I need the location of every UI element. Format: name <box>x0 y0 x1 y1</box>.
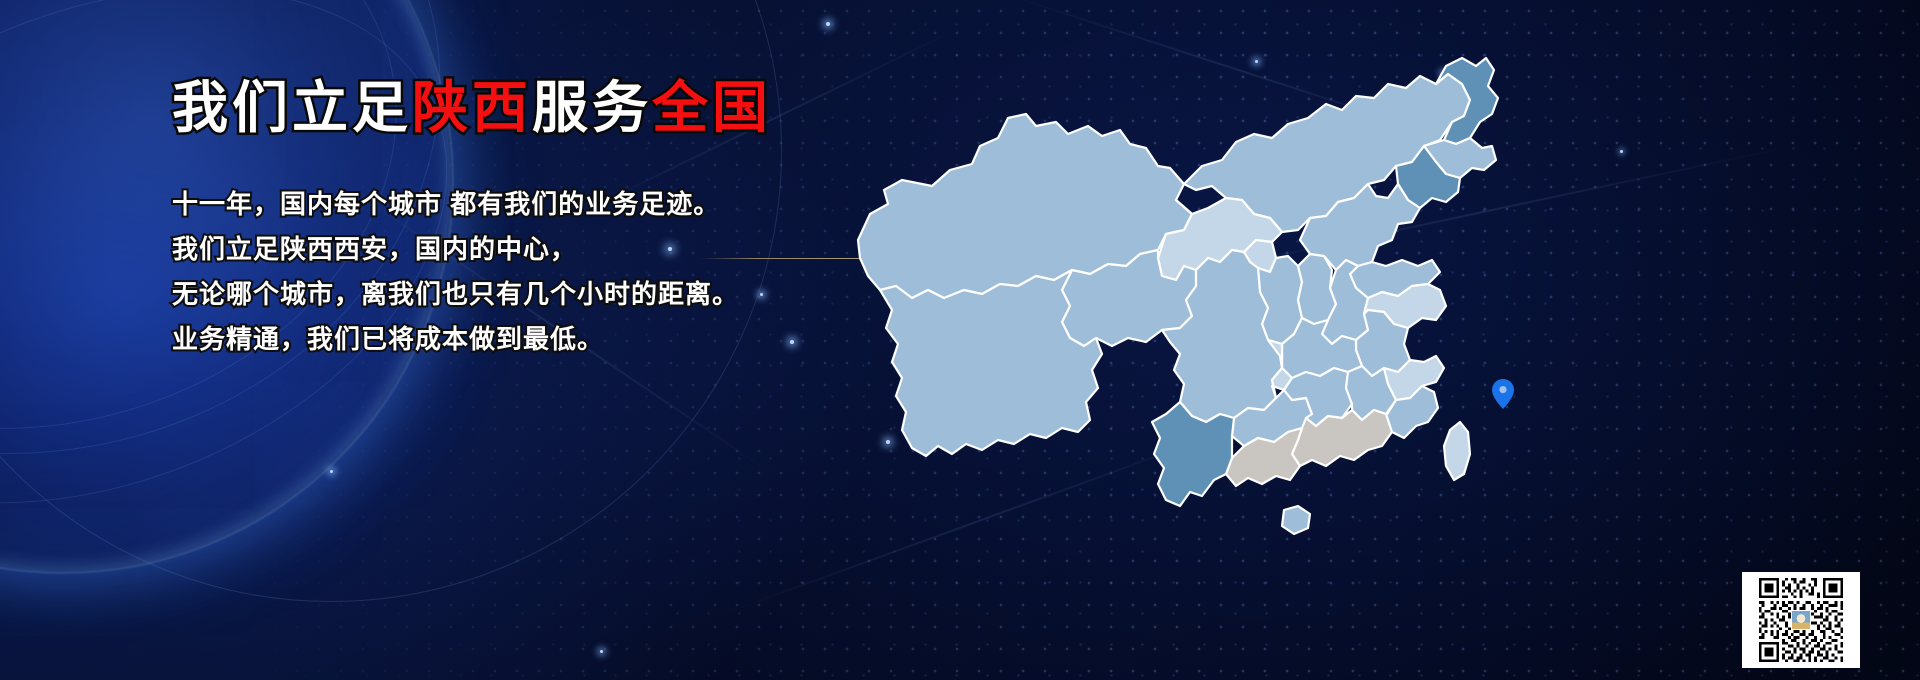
headline-segment-2: 陕西 <box>412 76 532 139</box>
headline-segment-1: 我们立足 <box>172 76 412 139</box>
map-location-pin[interactable] <box>1492 379 1514 409</box>
china-map <box>840 18 1520 563</box>
body-line-4: 业务精通，我们已将成本做到最低。 <box>172 317 872 362</box>
body-line-2: 我们立足陕西西安，国内的中心， <box>172 227 872 272</box>
headline-segment-3: 服务 <box>532 76 652 139</box>
qr-code[interactable] <box>1742 572 1860 668</box>
promo-banner: 我们立足陕西服务全国 十一年，国内每个城市 都有我们的业务足迹。 我们立足陕西西… <box>0 0 1920 680</box>
province-hainan <box>1282 506 1310 534</box>
banner-copy: 我们立足陕西服务全国 十一年，国内每个城市 都有我们的业务足迹。 我们立足陕西西… <box>172 78 872 361</box>
body-line-1: 十一年，国内每个城市 都有我们的业务足迹。 <box>172 182 872 227</box>
headline-segment-4: 全国 <box>652 76 772 139</box>
province-yunnan <box>1152 402 1234 506</box>
province-taiwan <box>1444 422 1470 480</box>
body-line-3: 无论哪个城市，离我们也只有几个小时的距离。 <box>172 272 872 317</box>
province-guangdong <box>1292 410 1392 466</box>
page-title: 我们立足陕西服务全国 <box>172 78 872 138</box>
